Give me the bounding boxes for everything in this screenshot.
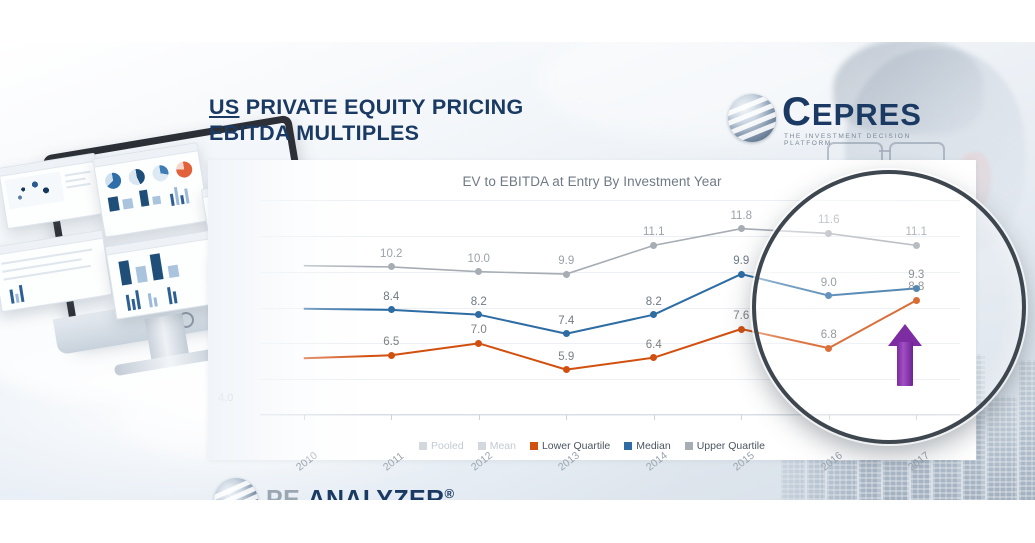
data-point-label: 10.0: [468, 253, 490, 265]
data-point: [738, 225, 745, 232]
data-point-label: 8.4: [383, 291, 399, 303]
hero-banner: EV to EBITDA at Entry By Investment Year…: [0, 42, 1035, 500]
glasses-bridge: [879, 150, 891, 152]
pe-analyzer-analyzer: ANALYZER: [308, 485, 445, 500]
legend-label: Pooled: [431, 440, 464, 452]
x-axis-tick: [304, 415, 305, 420]
registered-mark: ®: [445, 486, 455, 500]
data-point: [738, 271, 745, 278]
x-axis-tick: [654, 415, 655, 420]
legend-swatch: [685, 442, 693, 450]
data-point-label: 8.2: [646, 296, 662, 308]
arrow-shaft: [897, 342, 913, 386]
chart-legend: PooledMeanLower QuartileMedianUpper Quar…: [208, 440, 976, 452]
pe-analyzer-wordmark: PE.ANALYZER®: [266, 480, 455, 500]
x-axis-tick: [391, 415, 392, 420]
pe-analyzer-logo: PE.ANALYZER® THE INVESTMENT ANALYSIS PLA…: [214, 476, 446, 500]
data-point-label: 10.2: [380, 248, 402, 260]
cepres-name-rest: EPRES: [812, 97, 922, 132]
data-point-label: 11.8: [730, 210, 752, 222]
x-axis-tick: [566, 415, 567, 420]
cepres-logo: CEPRES THE INVESTMENT DECISION PLATFORM: [728, 90, 924, 148]
data-point-label: 11.1: [643, 226, 665, 238]
legend-label: Median: [636, 440, 670, 452]
legend-item-median[interactable]: Median: [624, 440, 670, 452]
data-point: [738, 326, 745, 333]
x-axis-tick: [741, 415, 742, 420]
y-axis-tick-label: 4.0: [218, 392, 233, 404]
data-point-label: 9.9: [558, 255, 574, 267]
x-axis-label: 2015: [731, 450, 757, 474]
legend-item-mean[interactable]: Mean: [478, 440, 516, 452]
page-title: US PRIVATE EQUITY PRICING EBITDA MULTIPL…: [209, 94, 524, 146]
dashboard-card-kpi: [92, 142, 209, 238]
legend-label: Lower Quartile: [542, 440, 610, 452]
page-title-us: US: [209, 95, 239, 119]
legend-label: Upper Quartile: [697, 440, 765, 452]
legend-swatch: [478, 442, 486, 450]
data-point: [388, 352, 395, 359]
page-title-line1-rest: PRIVATE EQUITY PRICING: [239, 95, 523, 119]
page-title-line2: EBITDA MULTIPLES: [209, 120, 524, 146]
legend-swatch: [419, 442, 427, 450]
data-point-label: 6.5: [383, 336, 399, 348]
data-point: [563, 366, 570, 373]
data-point-label: 6.4: [646, 339, 662, 351]
magnifier-glass-highlight: [756, 174, 1022, 440]
page-title-line1: US PRIVATE EQUITY PRICING: [209, 94, 524, 120]
cepres-initial: C: [782, 90, 812, 134]
data-point-label: 5.9: [558, 351, 574, 363]
legend-swatch: [530, 442, 538, 450]
screenshot-root: EV to EBITDA at Entry By Investment Year…: [0, 0, 1035, 543]
data-point-label: 8.2: [471, 296, 487, 308]
legend-item-upper-quartile[interactable]: Upper Quartile: [685, 440, 765, 452]
x-axis-tick: [479, 415, 480, 420]
pe-analyzer-dot: .: [300, 485, 307, 500]
data-point: [563, 330, 570, 337]
cepres-tagline: THE INVESTMENT DECISION PLATFORM: [784, 133, 924, 147]
data-point-label: 7.4: [558, 315, 574, 327]
cepres-globe-icon: [728, 94, 776, 142]
pe-analyzer-globe-icon: [214, 478, 258, 500]
legend-item-pooled[interactable]: Pooled: [419, 440, 464, 452]
legend-swatch: [624, 442, 632, 450]
legend-item-lower-quartile[interactable]: Lower Quartile: [530, 440, 610, 452]
data-point-label: 9.9: [733, 255, 749, 267]
up-arrow-icon: [888, 324, 922, 386]
data-point: [563, 271, 570, 278]
pe-analyzer-pe: PE: [266, 485, 300, 500]
legend-label: Mean: [490, 440, 516, 452]
data-point-label: 7.0: [471, 324, 487, 336]
cepres-wordmark: CEPRES: [782, 94, 922, 133]
magnifier-lens: [752, 170, 1026, 444]
data-point-label: 7.6: [733, 310, 749, 322]
